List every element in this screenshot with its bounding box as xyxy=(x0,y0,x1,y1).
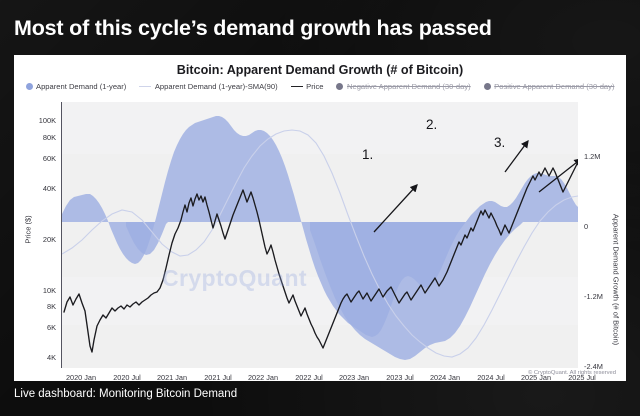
legend-dot-icon xyxy=(484,83,491,90)
x-tick: 2021 Jul xyxy=(204,373,232,381)
chart-card: Bitcoin: Apparent Demand Growth (# of Bi… xyxy=(14,55,626,381)
legend-item-price[interactable]: Price xyxy=(291,82,324,91)
page-headline: Most of this cycle’s demand growth has p… xyxy=(14,8,626,48)
x-tick: 2024 Jan xyxy=(430,373,460,381)
x-tick: 2023 Jul xyxy=(386,373,414,381)
copyright-notice: © CryptoQuant. All rights reserved xyxy=(528,370,616,376)
x-tick: 2020 Jan xyxy=(66,373,96,381)
legend-item-negative-apparent-demand-30d[interactable]: Negative Apparent Demand (30-day) xyxy=(336,82,470,91)
x-tick: 2023 Jan xyxy=(339,373,369,381)
y-tick-left: 10K xyxy=(20,286,56,295)
legend-line-icon xyxy=(291,86,303,87)
legend-dot-icon xyxy=(336,83,343,90)
legend-label: Price xyxy=(306,82,323,91)
x-tick: 2022 Jul xyxy=(295,373,323,381)
legend-label: Apparent Demand (1-year) xyxy=(36,82,126,91)
y-tick-left: 100K xyxy=(20,116,56,125)
legend-item-apparent-demand-1y[interactable]: Apparent Demand (1-year) xyxy=(26,82,127,91)
annotation-label-1: 1. xyxy=(362,147,373,162)
chart-legend: Apparent Demand (1-year) Apparent Demand… xyxy=(14,82,626,91)
x-tick: 2021 Jan xyxy=(157,373,187,381)
y-tick-right: 1.2M xyxy=(584,152,618,161)
y-tick-left: 20K xyxy=(20,235,56,244)
y-tick-right: -1.2M xyxy=(584,292,618,301)
x-tick: 2022 Jan xyxy=(248,373,278,381)
plot-band xyxy=(62,277,578,325)
y-axis-left-label: Price ($) xyxy=(24,200,33,260)
legend-label: Negative Apparent Demand (30-day) xyxy=(347,82,471,91)
y-tick-left: 6K xyxy=(20,323,56,332)
y-tick-left: 60K xyxy=(20,154,56,163)
legend-label: Apparent Demand (1-year)-SMA(90) xyxy=(155,82,278,91)
x-tick: 2020 Jul xyxy=(113,373,141,381)
y-tick-left: 40K xyxy=(20,184,56,193)
legend-item-apparent-demand-sma90[interactable]: Apparent Demand (1-year)-SMA(90) xyxy=(139,82,277,91)
footer-caption: Live dashboard: Monitoring Bitcoin Deman… xyxy=(14,388,237,400)
y-tick-right: 0 xyxy=(584,222,618,231)
x-tick: 2024 Jul xyxy=(477,373,505,381)
chart-title: Bitcoin: Apparent Demand Growth (# of Bi… xyxy=(14,63,626,77)
legend-dot-icon xyxy=(26,83,33,90)
y-tick-left: 4K xyxy=(20,353,56,362)
annotation-label-3: 3. xyxy=(494,135,505,150)
legend-line-icon xyxy=(139,86,151,87)
y-tick-left: 80K xyxy=(20,133,56,142)
annotation-label-2: 2. xyxy=(426,117,437,132)
y-tick-left: 8K xyxy=(20,302,56,311)
legend-item-positive-apparent-demand-30d[interactable]: Positive Apparent Demand (30-day) xyxy=(484,82,615,91)
legend-label: Positive Apparent Demand (30-day) xyxy=(494,82,614,91)
